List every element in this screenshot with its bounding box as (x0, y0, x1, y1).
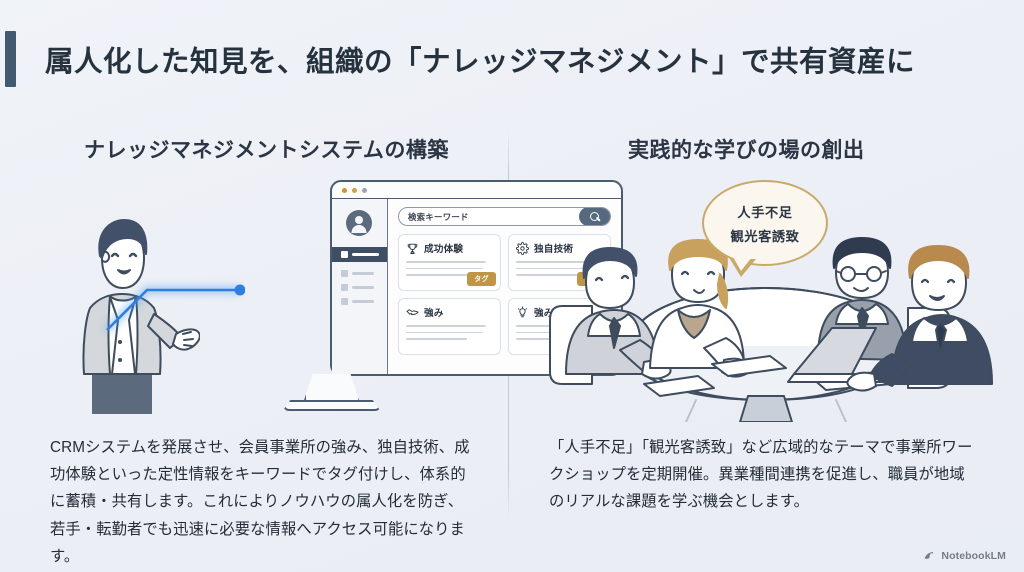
card-label: 強み (424, 305, 444, 319)
monitor-illustration: 検索キーワード 成功体験 (185, 176, 478, 416)
monitor-stand-base (283, 400, 381, 411)
window-dot-1 (342, 188, 347, 193)
search-placeholder: 検索キーワード (399, 211, 469, 223)
sidebar-item-label-placeholder (352, 300, 374, 302)
left-column-heading: ナレッジマネジメントシステムの構築 (84, 134, 449, 164)
user-avatar-icon (346, 210, 372, 236)
window-dot-2 (352, 188, 357, 193)
right-illustration: 人手不足 観光客誘致 (536, 178, 996, 422)
sidebar-item-2[interactable] (341, 270, 380, 277)
page-title: 属人化した知見を、組織の「ナレッジマネジメント」で共有資産に (45, 39, 915, 80)
handshake-icon (406, 306, 419, 319)
window-dot-3 (362, 188, 367, 193)
speech-bubble-line-2: 観光客誘致 (731, 226, 800, 245)
monitor-stand-neck (304, 374, 360, 402)
sidebar-bullet-icon (341, 270, 348, 277)
sidebar-bullet-icon (341, 284, 348, 291)
sidebar-item-4[interactable] (341, 298, 380, 305)
notebooklm-watermark: NotebookLM (923, 549, 1006, 562)
slide-root: 属人化した知見を、組織の「ナレッジマネジメント」で共有資産に ナレッジマネジメン… (0, 0, 1024, 572)
sidebar-item-label-placeholder (352, 253, 379, 255)
left-illustration: 検索キーワード 成功体験 (40, 172, 500, 420)
watermark-label: NotebookLM (941, 550, 1006, 562)
gear-icon (516, 242, 529, 255)
sidebar-item-active[interactable] (332, 247, 387, 262)
speech-bubble-tail (730, 259, 756, 277)
sidebar-bullet-icon (341, 298, 348, 305)
sidebar-item-label-placeholder (352, 286, 374, 288)
sidebar-item-3[interactable] (341, 284, 380, 291)
sidebar-bullet-icon (341, 251, 348, 258)
left-body-paragraph: CRMシステムを発展させ、会員事業所の強み、独自技術、成功体験といった定性情報を… (50, 434, 470, 570)
right-body-paragraph: 「人手不足」「観光客誘致」など広域的なテーマで事業所ワークショップを定期開催。異… (549, 434, 974, 516)
knowledge-card[interactable]: 強み (398, 298, 501, 355)
slide-title-row: 属人化した知見を、組織の「ナレッジマネジメント」で共有資産に (0, 30, 1024, 88)
speech-bubble: 人手不足 観光客誘致 (702, 180, 828, 266)
card-text-lines (406, 325, 493, 340)
card-tag-badge: タグ (467, 272, 496, 286)
knowledge-card[interactable]: 成功体験 タグ (398, 234, 501, 291)
notebooklm-icon (923, 549, 936, 562)
right-column-heading: 実践的な学びの場の創出 (628, 134, 865, 164)
title-accent-bar (5, 31, 16, 87)
lightbulb-icon (516, 306, 529, 319)
sidebar-item-label-placeholder (352, 272, 374, 274)
speech-bubble-line-1: 人手不足 (737, 202, 792, 221)
app-sidebar (332, 199, 388, 374)
card-label: 成功体験 (424, 241, 463, 255)
trophy-icon (406, 242, 419, 255)
